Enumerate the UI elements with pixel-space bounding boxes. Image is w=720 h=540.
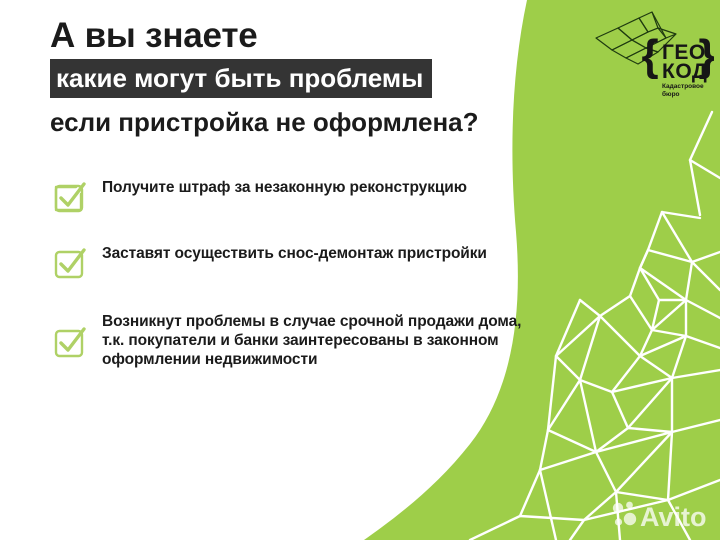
checkbox-check-icon xyxy=(52,180,86,214)
benefits-list: Получите штраф за незаконную реконструкц… xyxy=(52,178,522,399)
logo-brace-left: { xyxy=(641,31,658,80)
headline-block: А вы знаете какие могут быть проблемы ес… xyxy=(50,16,490,137)
avito-wordmark: Avito xyxy=(640,502,707,532)
list-item-label: Получите штраф за незаконную реконструкц… xyxy=(102,178,467,197)
headline-line-3: если пристройка не оформлена? xyxy=(50,107,490,137)
checkbox-check-icon xyxy=(52,325,86,359)
avito-dots-icon xyxy=(613,502,636,526)
list-item-label: Возникнут проблемы в случае срочной прод… xyxy=(102,312,522,369)
poster-canvas: { } ГЕО КОД Кадастровое бюро А вы знаете… xyxy=(0,0,720,540)
list-item: Заставят осуществить снос-демонтаж прист… xyxy=(52,244,522,280)
avito-watermark: Avito xyxy=(612,498,712,534)
geocode-logo: { } ГЕО КОД Кадастровое бюро xyxy=(592,8,714,100)
logo-tagline-line1: Кадастровое xyxy=(662,83,704,90)
list-item: Возникнут проблемы в случае срочной прод… xyxy=(52,312,522,369)
checkbox-check-icon xyxy=(52,246,86,280)
logo-tagline-line2: бюро xyxy=(662,90,680,98)
list-item-label: Заставят осуществить снос-демонтаж прист… xyxy=(102,244,487,263)
headline-line-1: А вы знаете xyxy=(50,16,490,56)
logo-line-kod: КОД xyxy=(662,60,707,83)
list-item: Получите штраф за незаконную реконструкц… xyxy=(52,178,522,214)
headline-line-2: какие могут быть проблемы xyxy=(56,64,423,92)
headline-highlight-band: какие могут быть проблемы xyxy=(50,59,432,98)
